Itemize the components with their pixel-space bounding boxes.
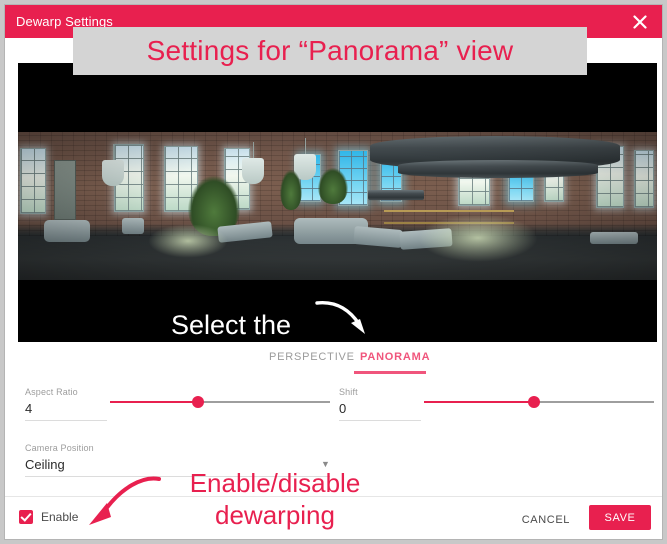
annotation-callout-top: Settings for “Panorama” view [73,27,587,75]
slider-thumb[interactable] [528,396,540,408]
checkbox-checked-icon[interactable] [19,510,33,524]
enable-checkbox[interactable]: Enable [19,510,78,524]
slider-thumb[interactable] [192,396,204,408]
slider-fill [110,401,198,403]
arrow-down-left-icon [73,473,163,535]
slider-track [198,401,330,403]
camera-position-label: Camera Position [25,443,94,453]
tab-perspective[interactable]: PERSPECTIVE [263,347,361,367]
dewarp-settings-dialog: Dewarp Settings [4,4,663,540]
aspect-ratio-input[interactable] [25,401,107,421]
panorama-image [18,132,657,280]
annotation-line-2: dewarping [215,500,335,530]
shift-label: Shift [339,387,358,397]
close-icon[interactable] [629,11,651,33]
save-button[interactable]: SAVE [589,505,651,530]
view-mode-tabs: PERSPECTIVE PANORAMA [5,347,662,377]
lens-vignette [18,132,657,280]
annotation-enable-disable-dewarping: Enable/disable dewarping [150,467,400,531]
annotation-line-1: Select the [171,310,291,340]
shift-input[interactable] [339,401,421,421]
annotation-callout-text: Settings for “Panorama” view [147,35,514,67]
cancel-button[interactable]: CANCEL [516,509,576,531]
tab-panorama[interactable]: PANORAMA [354,347,436,367]
shift-slider[interactable] [424,394,654,410]
tab-active-indicator [354,371,426,374]
arrow-down-right-icon [315,293,375,339]
aspect-ratio-label: Aspect Ratio [25,387,78,397]
slider-fill [424,401,534,403]
aspect-ratio-slider[interactable] [110,394,330,410]
annotation-line-1: Enable/disable [190,468,361,498]
slider-track [534,401,654,403]
